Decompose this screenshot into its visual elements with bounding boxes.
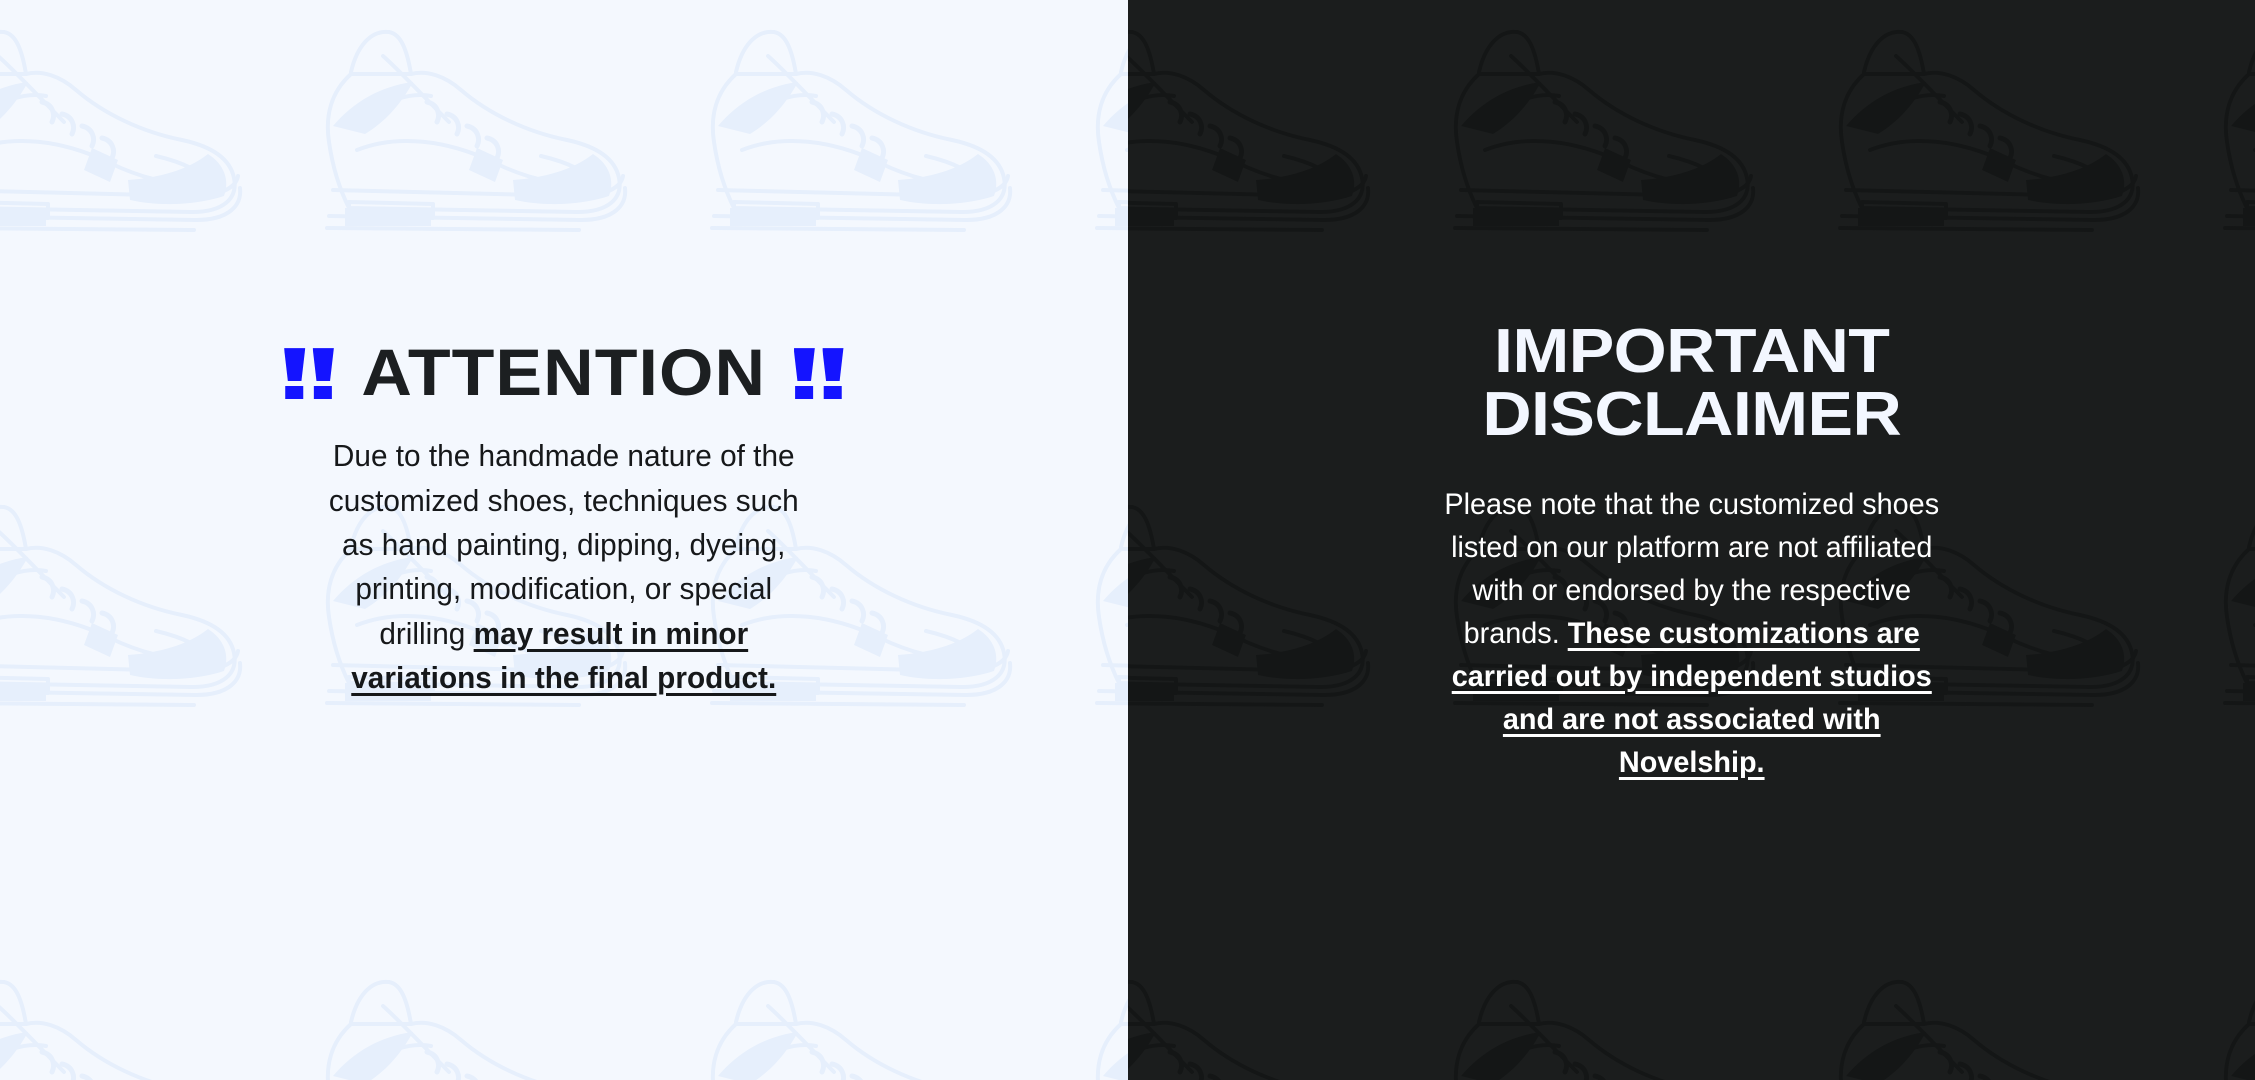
exclamation-dot	[286, 386, 304, 399]
double-exclamation-icon-right	[794, 348, 844, 399]
attention-panel: ATTENTION Due to the handmade nature of …	[0, 0, 1128, 1080]
disclaimer-content: IMPORTANT DISCLAIMER Please note that th…	[1128, 0, 2255, 785]
disclaimer-heading-line-2: DISCLAIMER	[1236, 383, 2146, 446]
attention-body: Due to the handmade nature of the custom…	[167, 434, 961, 700]
disclaimer-panel: IMPORTANT DISCLAIMER Please note that th…	[1128, 0, 2255, 1080]
exclamation-dot	[824, 386, 842, 399]
exclamation-mark	[313, 348, 334, 399]
exclamation-dot	[314, 386, 332, 399]
disclaimer-heading-line-1: IMPORTANT	[1236, 320, 2146, 383]
exclamation-stem	[284, 348, 305, 381]
exclamation-stem	[794, 348, 815, 381]
exclamation-mark	[794, 348, 815, 399]
exclamation-mark	[822, 348, 843, 399]
attention-heading-text: ATTENTION	[361, 341, 766, 404]
double-exclamation-icon-left	[284, 348, 334, 399]
exclamation-stem	[822, 348, 843, 381]
exclamation-mark	[284, 348, 305, 399]
attention-heading: ATTENTION	[125, 341, 1002, 404]
exclamation-dot	[795, 386, 813, 399]
exclamation-stem	[313, 348, 334, 381]
disclaimer-body: Please note that the customized shoes li…	[1294, 484, 2088, 784]
disclaimer-banner: ATTENTION Due to the handmade nature of …	[0, 0, 2255, 1080]
attention-content: ATTENTION Due to the handmade nature of …	[0, 0, 1128, 700]
disclaimer-heading: IMPORTANT DISCLAIMER	[1236, 320, 2146, 446]
